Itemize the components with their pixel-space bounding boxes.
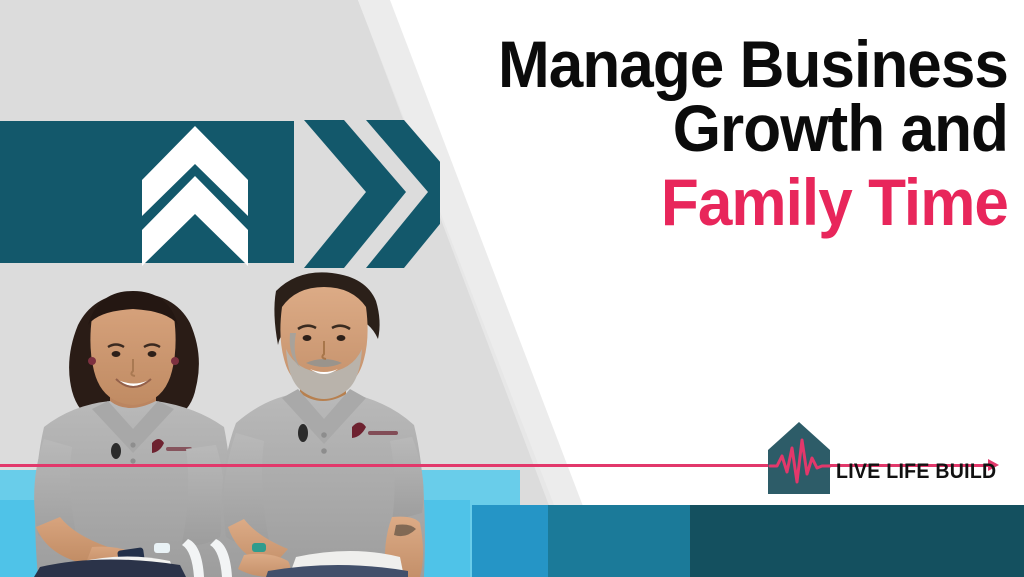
presenters-photo-svg <box>0 255 500 577</box>
presenters-photo <box>0 255 500 577</box>
up-chevron-svg <box>140 118 250 268</box>
man-presenter-figure <box>210 272 425 577</box>
right-chevron-svg <box>300 118 440 270</box>
brand-logo[interactable]: LIVE LIFE BUILD <box>766 420 981 496</box>
house-pulse-icon <box>766 420 832 496</box>
brand-name: LIVE LIFE BUILD <box>836 460 996 484</box>
double-up-chevron-icon <box>140 118 250 268</box>
title-line-2: Growth and <box>440 96 1008 160</box>
title-line-1: Manage Business <box>440 32 1008 96</box>
double-right-chevron-icon <box>300 118 440 270</box>
bottom-bar-dark-teal <box>690 505 1024 577</box>
page-title: Manage Business Growth and Family Time <box>440 32 1008 234</box>
title-line-3-accent: Family Time <box>440 170 1008 234</box>
woman-presenter-figure <box>34 291 233 577</box>
video-thumbnail: Manage Business Growth and Family Time L… <box>0 0 1024 577</box>
house-pulse-svg <box>766 420 832 496</box>
bottom-bar-mid-teal <box>548 505 690 577</box>
bottom-bar-light-blue <box>472 505 548 577</box>
